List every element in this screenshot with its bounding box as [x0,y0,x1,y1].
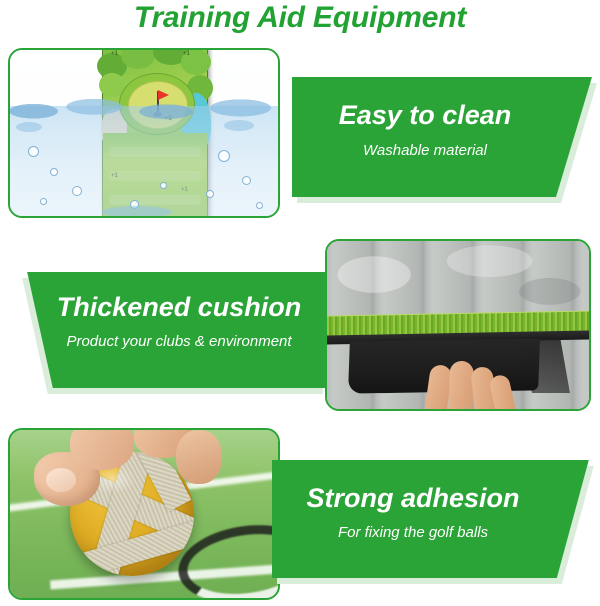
infographic-page: Training Aid Equipment [0,0,600,606]
feature-banner-easy-to-clean: Easy to clean Washable material [292,77,592,197]
feature-headline: Thickened cushion [8,292,328,323]
feature-banner-thickened-cushion: Thickened cushion Product your clubs & e… [8,272,328,388]
water-bubble [206,190,214,198]
water-splash [102,206,172,216]
banner-text-group: Thickened cushion Product your clubs & e… [8,272,328,388]
water-splash [224,120,254,131]
finger [176,430,222,484]
feature-subtext: Product your clubs & environment [8,333,328,350]
page-title: Training Aid Equipment [0,1,600,35]
water-splash [16,122,42,132]
water-bubble [50,168,58,176]
golf-mat-in-water-photo: +5 +1 +1 +1 +1 [8,48,280,218]
water-bubble [28,146,39,157]
water-bubble [256,202,263,209]
feature-subtext: For fixing the golf balls [272,524,592,541]
water-bubble [72,186,82,196]
banner-text-group: Strong adhesion For fixing the golf ball… [272,460,592,578]
mat-corner-score: +1 [111,51,118,57]
water-bubble [40,198,47,205]
velcro-ball-photo [8,428,280,600]
water-surface-crest [10,98,278,120]
mat-corner-score: +1 [183,51,190,57]
finger [70,430,134,470]
thumb-nail [46,468,76,492]
ball-scene-art [10,430,278,598]
feature-headline: Strong adhesion [272,483,592,514]
banner-text-group: Easy to clean Washable material [292,77,592,197]
hand-holding-ball [26,430,216,520]
finger [448,361,474,409]
feature-banner-strong-adhesion: Strong adhesion For fixing the golf ball… [272,460,592,578]
feature-headline: Easy to clean [292,100,592,131]
fence-scene-art [327,241,589,409]
water-scene-art: +5 +1 +1 +1 +1 [10,50,278,216]
hand-lifting-mat [423,361,519,409]
turf-mat-thickness-photo [325,239,591,411]
water-bubble [242,176,251,185]
water-bubble [218,150,230,162]
feature-subtext: Washable material [292,142,592,159]
water-bubble [160,182,167,189]
